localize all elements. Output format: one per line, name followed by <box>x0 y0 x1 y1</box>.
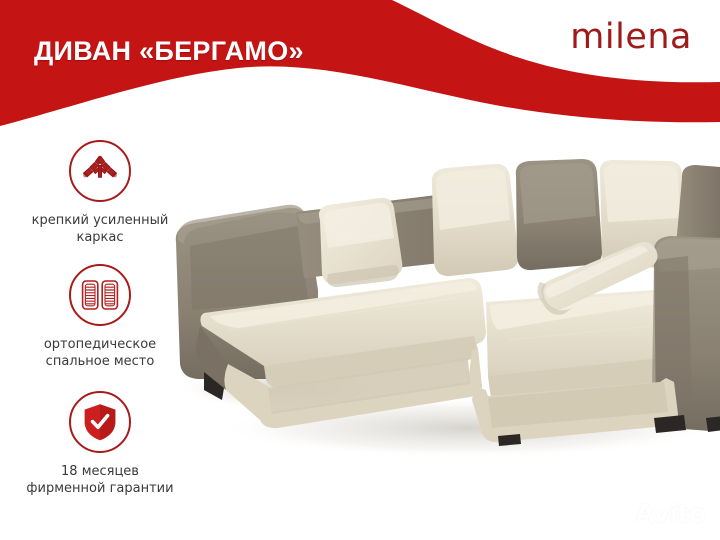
wooden-frame-icon <box>80 153 120 189</box>
feature-icon-ring-orthopedic <box>69 264 131 326</box>
feature-label-warranty: 18 месяцев фирменной гарантии <box>0 463 200 497</box>
avito-dots-icon <box>605 502 631 526</box>
page-title: ДИВАН «БЕРГАМО» <box>34 36 304 67</box>
feature-icon-ring-frame <box>69 140 131 202</box>
avito-wordmark: Avito <box>636 499 706 528</box>
product-banner-image: ДИВАН «БЕРГАМО» milena <box>0 0 720 540</box>
brand-logo: milena <box>570 20 692 55</box>
feature-label-orthopedic: ортопедическое спальное место <box>0 336 200 370</box>
feature-list: крепкий усиленный каркас <box>0 140 200 507</box>
feature-label-frame: крепкий усиленный каркас <box>0 212 200 246</box>
feature-icon-ring-warranty <box>69 391 131 453</box>
feature-item-orthopedic: ортопедическое спальное место <box>0 264 200 370</box>
feature-item-frame: крепкий усиленный каркас <box>0 140 200 246</box>
sofa-product-photo <box>168 150 720 470</box>
feature-item-warranty: 18 месяцев фирменной гарантии <box>0 391 200 497</box>
shield-check-icon <box>81 402 119 442</box>
avito-watermark: Avito <box>605 499 706 528</box>
orthopedic-mattress-icon <box>80 278 120 312</box>
